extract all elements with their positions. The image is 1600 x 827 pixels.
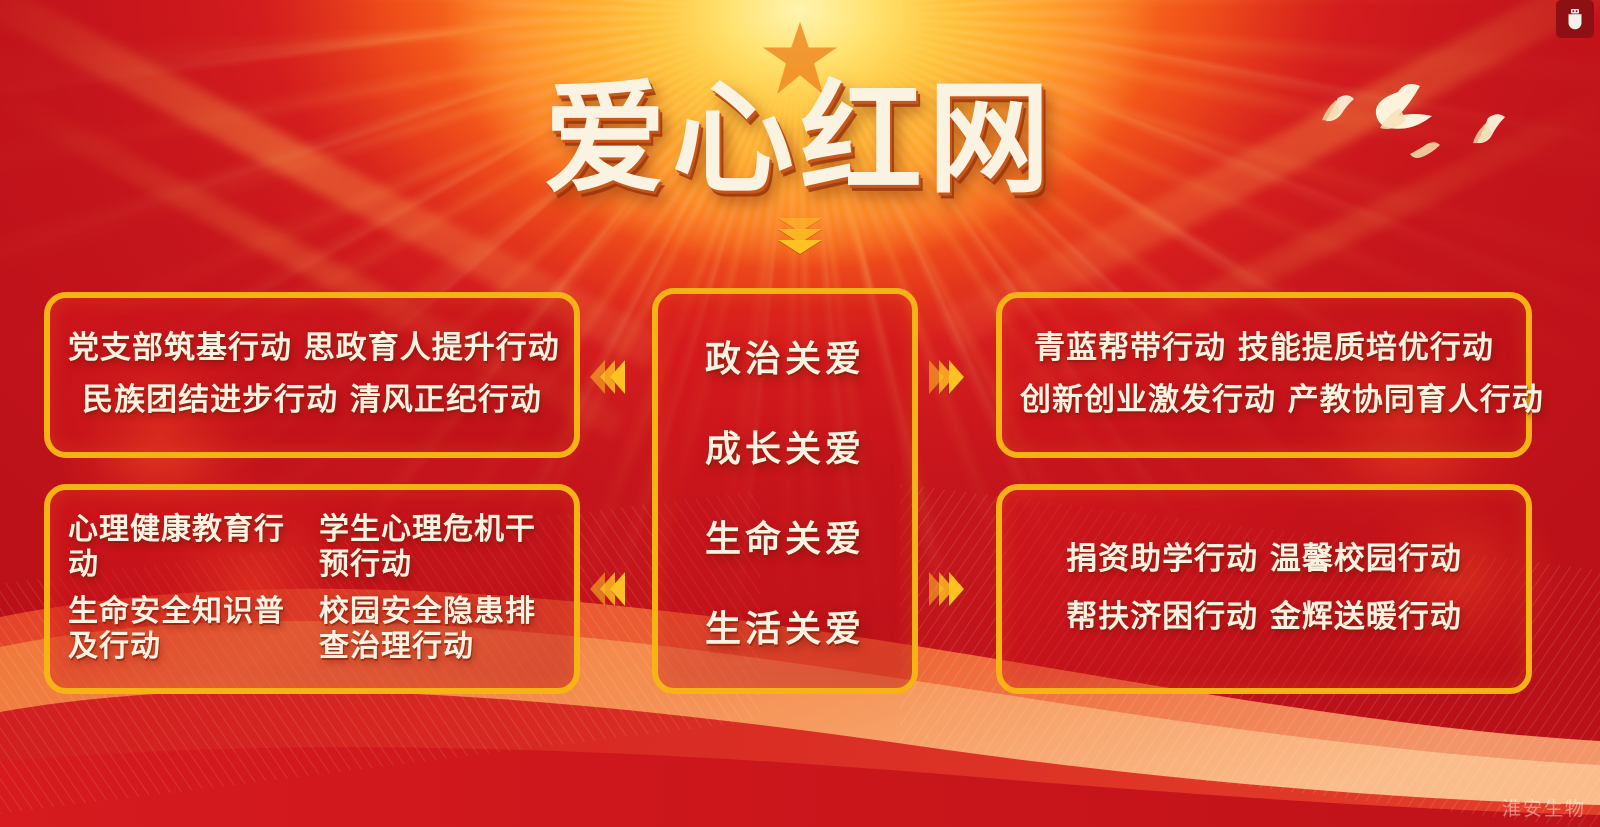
panel-row: 心理健康教育行动 学生心理危机干预行动 <box>68 513 556 583</box>
watermark: 淮安生物 <box>1502 794 1586 821</box>
poster-title-wrap: 爱心红网 <box>0 78 1600 200</box>
center-item: 成长关爱 <box>672 420 898 472</box>
panel-bottom-left[interactable]: 心理健康教育行动 学生心理危机干预行动 生命安全知识普及行动 校园安全隐患排查治… <box>44 484 580 694</box>
panel-line: 帮扶济困行动 金辉送暖行动 <box>1020 599 1508 637</box>
panel-line: 民族团结进步行动 清风正纪行动 <box>68 382 556 420</box>
panel-bottom-right[interactable]: 捐资助学行动 温馨校园行动 帮扶济困行动 金辉送暖行动 <box>996 484 1532 694</box>
panel-row: 生命安全知识普及行动 校园安全隐患排查治理行动 <box>68 595 556 665</box>
panel-line: 创新创业激发行动 产教协同育人行动 <box>1020 382 1508 420</box>
chevron-left-icon <box>610 572 625 606</box>
arrow-right-bottom <box>934 572 964 606</box>
usb-drive-icon <box>1565 8 1585 30</box>
panel-center[interactable]: 政治关爱 成长关爱 生命关爱 生活关爱 <box>652 288 918 694</box>
panel-line: 捐资助学行动 温馨校园行动 <box>1020 541 1508 579</box>
panel-line: 青蓝帮带行动 技能提质培优行动 <box>1020 330 1508 368</box>
center-item: 生活关爱 <box>672 600 898 652</box>
panel-cell: 心理健康教育行动 <box>68 513 305 583</box>
panel-cell: 校园安全隐患排查治理行动 <box>319 595 556 665</box>
center-item: 生命关爱 <box>672 510 898 562</box>
usb-drive-badge[interactable] <box>1556 0 1594 38</box>
center-item: 政治关爱 <box>672 330 898 382</box>
arrow-left-top <box>590 360 620 394</box>
chevron-right-icon <box>949 572 964 606</box>
chevron-left-icon <box>610 360 625 394</box>
arrow-right-top <box>934 360 964 394</box>
panel-cell: 生命安全知识普及行动 <box>68 595 305 665</box>
panel-top-right[interactable]: 青蓝帮带行动 技能提质培优行动 创新创业激发行动 产教协同育人行动 <box>996 292 1532 458</box>
panel-cell: 学生心理危机干预行动 <box>319 513 556 583</box>
page-title: 爱心红网 <box>544 78 1056 200</box>
poster-canvas: 爱心红网 党支部筑基行动 思政育人提升行动 民族团结进步行动 清风正纪行动 心理… <box>0 0 1600 827</box>
chevron-down-icon <box>778 240 822 254</box>
title-chevron-down-group <box>778 218 822 251</box>
panel-line: 党支部筑基行动 思政育人提升行动 <box>68 330 556 368</box>
arrow-left-bottom <box>590 572 620 606</box>
chevron-right-icon <box>949 360 964 394</box>
panel-top-left[interactable]: 党支部筑基行动 思政育人提升行动 民族团结进步行动 清风正纪行动 <box>44 292 580 458</box>
